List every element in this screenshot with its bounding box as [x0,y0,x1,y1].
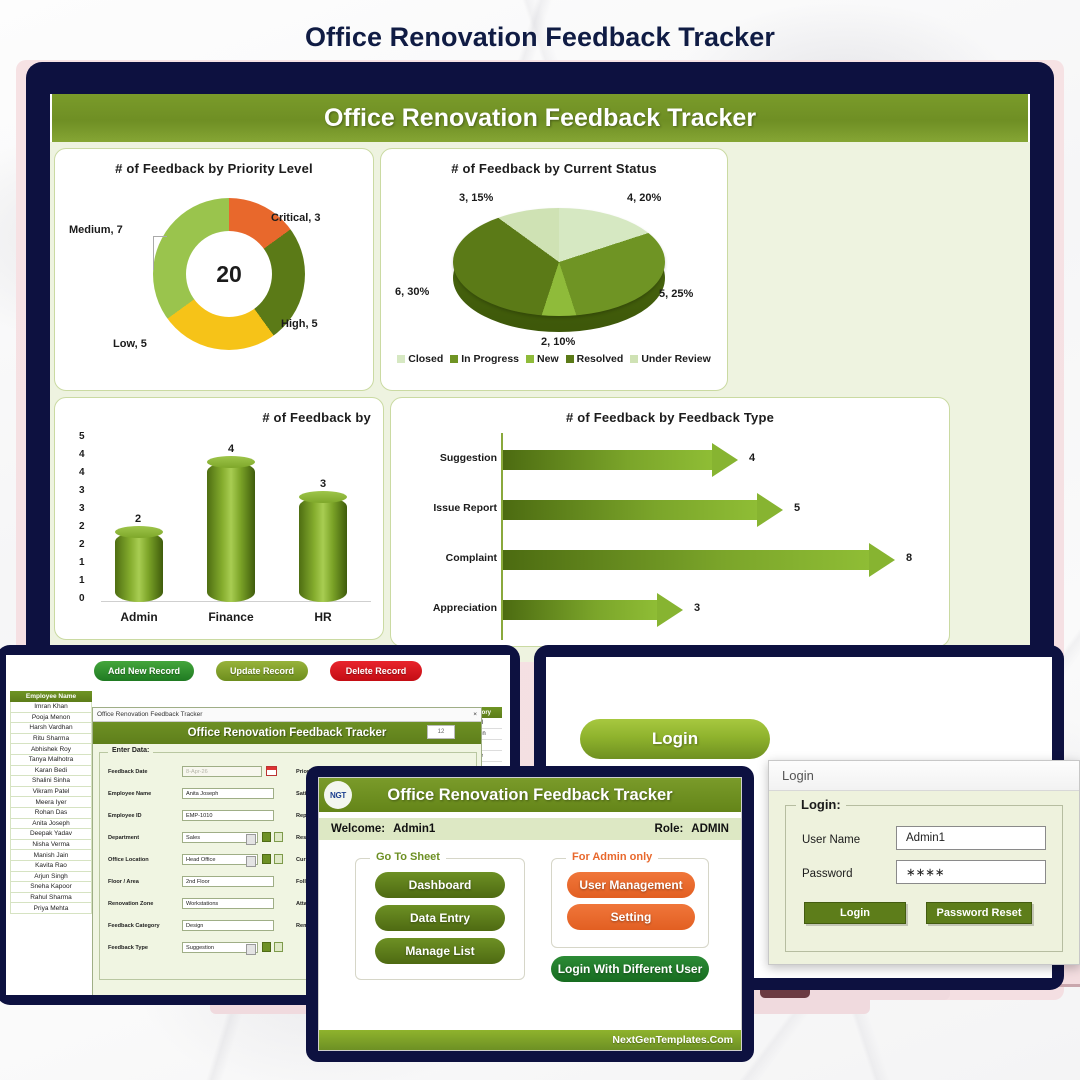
user-management-button[interactable]: User Management [567,872,695,898]
department-refresh-button[interactable] [274,832,283,842]
arrow-value-complaint: 8 [906,552,912,564]
arrow-bar-appreciation [503,600,657,620]
ytick-15: 1 [79,557,85,568]
table-row[interactable]: Shalini Sinha [10,776,92,787]
legend-item-underreview: Under Review [630,353,710,365]
card-title-status: # of Feedback by Current Status [387,155,721,176]
table-row[interactable]: Meera Iyer [10,797,92,808]
password-reset-button[interactable]: Password Reset [926,902,1032,924]
donut-label-low: Low, 5 [113,338,147,350]
login-submit-button[interactable]: Login [804,902,906,924]
grid-header-employee-name[interactable]: Employee Name [10,691,92,702]
table-row[interactable]: Anita Joseph [10,819,92,830]
pie-label-underreview: 3, 15% [459,192,493,204]
label-department: Department [108,835,139,841]
password-input[interactable]: ∗∗∗∗ [896,860,1046,884]
legend-label-underreview: Under Review [641,353,710,365]
table-row[interactable]: Nisha Verma [10,840,92,851]
legend-label-resolved: Resolved [577,353,624,365]
cylinder-bar-finance [207,462,255,602]
arrow-value-appreciation: 3 [694,602,700,614]
data-entry-button[interactable]: Data Entry [375,905,505,931]
ytick-2: 2 [79,539,85,550]
pie-3d-top [453,208,665,316]
calendar-icon[interactable] [266,766,277,776]
table-row[interactable]: Imran Khan [10,702,92,713]
table-row[interactable]: Ritu Sharma [10,734,92,745]
welcome-user: Admin1 [393,823,435,835]
cylinder-value-hr: 3 [320,478,326,490]
department-select[interactable]: Sales [182,832,258,843]
dashboard-screen: Office Renovation Feedback Tracker # of … [50,94,1030,662]
label-office-location: Office Location [108,857,149,863]
legend-swatch-inprogress [450,355,458,363]
ytick-1: 1 [79,575,85,586]
cylinder-bar-hr [299,497,347,602]
form-titlebar: Office Renovation Feedback Tracker × [93,708,481,722]
arrow-head-suggestion [712,443,738,477]
delete-record-button[interactable]: Delete Record [330,661,422,681]
arrow-bar-complaint [503,550,869,570]
form-window-title: Office Renovation Feedback Tracker [97,711,202,718]
table-row[interactable]: Vikram Patel [10,787,92,798]
login-fieldset-label: Login: [796,797,846,812]
employee-name-grid: Employee Name Imran Khan Pooja Menon Har… [10,691,92,914]
card-priority-level: # of Feedback by Priority Level 20 Criti… [54,148,374,391]
username-input[interactable]: Admin1 [896,826,1046,850]
ytick-35: 3 [79,485,85,496]
arrow-suggestion: Suggestion 4 [503,443,738,477]
legend-swatch-underreview [630,355,638,363]
table-row[interactable]: Deepak Yadav [10,829,92,840]
dashboard-button[interactable]: Dashboard [375,872,505,898]
office-location-add-button[interactable] [262,854,271,864]
donut-leader-line [153,236,167,270]
update-record-button[interactable]: Update Record [216,661,308,681]
arrow-bar-issue [503,500,757,520]
label-employee-id: Employee ID [108,813,142,819]
password-label: Password [802,868,853,880]
label-feedback-type: Feedback Type [108,945,148,951]
label-renovation-zone: Renovation Zone [108,901,153,907]
employee-id-input[interactable]: EMP-1010 [182,810,274,821]
arrow-issue-report: Issue Report 5 [503,493,783,527]
card-title-priority: # of Feedback by Priority Level [61,155,367,176]
legend-label-inprogress: In Progress [461,353,519,365]
card-current-status: # of Feedback by Current Status 4, 20% 5… [380,148,728,391]
username-label: User Name [802,834,860,846]
legend-item-inprogress: In Progress [450,353,519,365]
laptop-right-notch [760,990,810,998]
cylinder-cat-finance: Finance [195,610,267,624]
admin-only-label: For Admin only [566,851,658,863]
footer-brand: NextGenTemplates.Com [612,1034,733,1046]
page-title: Office Renovation Feedback Tracker [0,22,1080,53]
login-dialog: Login Login: User Name Admin1 Password ∗… [768,760,1080,965]
record-count-box: 12 [427,725,455,739]
role-block: Role: ADMIN [655,823,729,835]
arrow-appreciation: Appreciation 3 [503,593,683,627]
office-location-select[interactable]: Head Office [182,854,258,865]
role-value: ADMIN [691,823,729,835]
enter-data-label: Enter Data: [108,747,153,754]
menu-body: Go To Sheet Dashboard Data Entry Manage … [319,840,741,1015]
cylinder-bar-chart: 5 4 4 3 3 2 2 1 1 0 2 Admin 4 Finan [61,425,377,630]
pie-label-new: 2, 10% [541,336,575,348]
table-row[interactable]: Tanya Malhotra [10,755,92,766]
welcome-block: Welcome: Admin1 [331,823,435,835]
table-row[interactable]: Harsh Vardhan [10,723,92,734]
ytick-0: 0 [79,593,85,604]
label-employee-name: Employee Name [108,791,151,797]
menu-screen: NGT Office Renovation Feedback Tracker W… [318,777,742,1051]
table-row[interactable]: Kavita Rao [10,861,92,872]
renovation-zone-input[interactable]: Workstations [182,898,274,909]
cylinder-cat-admin: Admin [103,610,175,624]
cylinder-value-finance: 4 [228,443,234,455]
feedback-category-input[interactable]: Design [182,920,274,931]
welcome-label: Welcome: [331,823,385,835]
role-label: Role: [655,823,684,835]
legend-swatch-closed [397,355,405,363]
card-feedback-type: # of Feedback by Feedback Type Suggestio… [390,397,950,647]
arrow-head-appreciation [657,593,683,627]
arrow-label-issue: Issue Report [417,502,497,514]
cylinder-value-admin: 2 [135,513,141,525]
label-feedback-date: Feedback Date [108,769,147,775]
arrow-chart: Suggestion 4 Issue Report 5 Complaint 8 [397,425,943,640]
ytick-45: 4 [79,449,85,460]
pie-chart: 4, 20% 5, 25% 2, 10% 6, 30% 3, 15% [387,176,721,351]
login-fieldset: Login: User Name Admin1 Password ∗∗∗∗ Lo… [785,805,1063,952]
login-different-user-button[interactable]: Login With Different User [551,956,709,982]
legend-swatch-resolved [566,355,574,363]
donut-label-high: High, 5 [281,318,318,330]
ytick-3: 3 [79,503,85,514]
arrow-label-complaint: Complaint [417,552,497,564]
pie-label-resolved: 6, 30% [395,286,429,298]
feedback-type-add-button[interactable] [262,942,271,952]
menu-welcome-bar: Welcome: Admin1 Role: ADMIN [319,818,741,840]
legend-label-new: New [537,353,559,365]
legend-item-new: New [526,353,559,365]
dashboard-body: # of Feedback by Priority Level 20 Criti… [50,142,1030,662]
ytick-25: 2 [79,521,85,532]
feedback-type-refresh-button[interactable] [274,942,283,952]
office-location-refresh-button[interactable] [274,854,283,864]
table-row[interactable]: Sneha Kapoor [10,882,92,893]
donut-label-critical: Critical, 3 [271,212,321,224]
employee-name-input[interactable]: Anita Joseph [182,788,274,799]
floor-area-input[interactable]: 2nd Floor [182,876,274,887]
ytick-4: 4 [79,467,85,478]
brand-logo-icon: NGT [324,781,352,809]
form-header: Office Renovation Feedback Tracker 12 [93,722,481,744]
feedback-type-select[interactable]: Suggestion [182,942,258,953]
login-dialog-title: Login [782,768,814,783]
menu-footer: NextGenTemplates.Com [319,1030,741,1050]
arrow-complaint: Complaint 8 [503,543,895,577]
tablet-main-menu: NGT Office Renovation Feedback Tracker W… [306,766,754,1062]
label-floor-area: Floor / Area [108,879,139,885]
card-title-department: # of Feedback by [61,404,377,425]
arrow-bar-suggestion [503,450,712,470]
label-feedback-category: Feedback Category [108,923,160,929]
table-row[interactable]: Arjun Singh [10,872,92,883]
login-button-large[interactable]: Login [580,719,770,759]
arrow-head-issue [757,493,783,527]
table-row[interactable]: Abhishek Roy [10,744,92,755]
ytick-5: 5 [79,431,85,442]
arrow-label-appreciation: Appreciation [417,602,497,614]
table-row[interactable]: Priya Mehta [10,903,92,914]
close-icon[interactable]: × [473,711,477,718]
legend-label-closed: Closed [408,353,443,365]
table-row[interactable]: Pooja Menon [10,713,92,724]
pie-legend: Closed In Progress New Resolved Under Re… [387,353,721,365]
table-row[interactable]: Karan Bedi [10,766,92,777]
dashboard-header-title: Office Renovation Feedback Tracker [324,104,756,133]
department-add-button[interactable] [262,832,271,842]
form-header-title: Office Renovation Feedback Tracker [188,727,387,739]
pie-label-closed: 4, 20% [627,192,661,204]
goto-sheet-label: Go To Sheet [370,851,446,863]
add-new-record-button[interactable]: Add New Record [94,661,194,681]
table-row[interactable]: Rohan Das [10,808,92,819]
donut-label-medium: Medium, 7 [69,224,123,236]
menu-header-title: Office Renovation Feedback Tracker [387,786,672,805]
laptop-main: Office Renovation Feedback Tracker # of … [26,62,1054,662]
card-title-feedback-type: # of Feedback by Feedback Type [397,404,943,425]
legend-item-resolved: Resolved [566,353,624,365]
donut-chart: 20 Critical, 3 High, 5 Low, 5 Medium, 7 [61,176,367,366]
arrow-head-complaint [869,543,895,577]
dashboard-header: Office Renovation Feedback Tracker [52,94,1028,142]
cylinder-bar-admin [115,532,163,602]
table-row[interactable]: Rahul Sharma [10,893,92,904]
manage-list-button[interactable]: Manage List [375,938,505,964]
table-row[interactable]: Manish Jain [10,850,92,861]
arrow-value-suggestion: 4 [749,452,755,464]
login-dialog-titlebar: Login [769,761,1079,791]
setting-button[interactable]: Setting [567,904,695,930]
card-department: # of Feedback by 5 4 4 3 3 2 2 1 1 0 2 A… [54,397,384,640]
legend-item-closed: Closed [397,353,443,365]
feedback-date-input[interactable]: 8-Apr-26 [182,766,262,777]
record-toolbar: Add New Record Update Record Delete Reco… [6,661,510,687]
cylinder-cat-hr: HR [287,610,359,624]
pie-label-inprogress: 5, 25% [659,288,693,300]
arrow-label-suggestion: Suggestion [417,452,497,464]
arrow-value-issue: 5 [794,502,800,514]
legend-swatch-new [526,355,534,363]
menu-header: NGT Office Renovation Feedback Tracker [319,778,741,812]
